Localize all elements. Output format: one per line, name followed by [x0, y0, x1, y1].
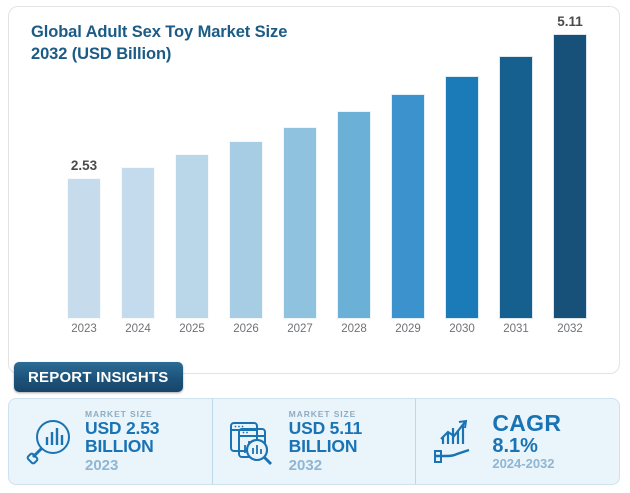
bar-2030 — [445, 7, 479, 319]
bar-2025 — [175, 7, 209, 319]
x-tick-2032: 2032 — [541, 323, 599, 335]
insight-kicker: MARKET SIZE — [289, 410, 362, 419]
x-tick-2028: 2028 — [325, 323, 383, 335]
insight-text: MARKET SIZE USD 5.11 BILLION 2032 — [289, 410, 362, 474]
bar-2027 — [283, 7, 317, 319]
bar-rect-2027 — [283, 127, 317, 319]
report-insights-banner: REPORT INSIGHTS — [14, 362, 183, 392]
cagr-title: CAGR — [492, 412, 561, 435]
insights-panel: MARKET SIZE USD 2.53 BILLION 2023 — [8, 398, 620, 485]
bar-2028 — [337, 7, 371, 319]
x-tick-2030: 2030 — [433, 323, 491, 335]
bar-rect-2023 — [67, 178, 101, 319]
bar-rect-2032 — [553, 34, 587, 319]
x-tick-2031: 2031 — [487, 323, 545, 335]
bar-value-label-2032: 5.11 — [541, 14, 599, 29]
insight-main-line2: BILLION — [85, 438, 159, 456]
insight-card-market-size-2032: MARKET SIZE USD 5.11 BILLION 2032 — [212, 399, 416, 484]
x-tick-2027: 2027 — [271, 323, 329, 335]
bar-value-label-2023: 2.53 — [55, 158, 113, 173]
x-tick-2024: 2024 — [109, 323, 167, 335]
bar-rect-2031 — [499, 56, 533, 319]
bar-2029 — [391, 7, 425, 319]
x-tick-2025: 2025 — [163, 323, 221, 335]
bar-rect-2028 — [337, 111, 371, 319]
chart-card: Global Adult Sex Toy Market Size 2032 (U… — [8, 6, 620, 374]
bar-2031 — [499, 7, 533, 319]
x-tick-2026: 2026 — [217, 323, 275, 335]
bar-2023: 2.53 — [67, 7, 101, 319]
magnifier-bar-chart-icon — [21, 414, 77, 470]
x-tick-2023: 2023 — [55, 323, 113, 335]
insight-main-line2: BILLION — [289, 438, 362, 456]
x-tick-2029: 2029 — [379, 323, 437, 335]
cagr-value: 8.1% — [492, 436, 561, 456]
insight-text: MARKET SIZE USD 2.53 BILLION 2023 — [85, 410, 159, 474]
cagr-range: 2024-2032 — [492, 457, 561, 470]
windows-magnifier-icon — [225, 414, 281, 470]
bar-rect-2024 — [121, 167, 155, 319]
bar-2026 — [229, 7, 263, 319]
bar-2024 — [121, 7, 155, 319]
insight-card-market-size-2023: MARKET SIZE USD 2.53 BILLION 2023 — [9, 399, 212, 484]
bar-rect-2030 — [445, 76, 479, 319]
report-insights-label: REPORT INSIGHTS — [28, 369, 169, 386]
insight-year: 2023 — [85, 458, 159, 473]
hand-growth-chart-icon — [428, 414, 484, 470]
insight-kicker: MARKET SIZE — [85, 410, 159, 419]
bar-chart-plot: 2.535.11 2023202420252026202720282029203… — [9, 7, 620, 373]
bar-rect-2029 — [391, 94, 425, 319]
infographic-root: Global Adult Sex Toy Market Size 2032 (U… — [0, 0, 630, 493]
bar-2032: 5.11 — [553, 7, 587, 319]
x-axis: 2023202420252026202720282029203020312032 — [57, 323, 597, 347]
bar-rect-2025 — [175, 154, 209, 319]
bar-series: 2.535.11 — [57, 7, 597, 319]
insight-year: 2032 — [289, 458, 362, 473]
cagr-text: CAGR 8.1% 2024-2032 — [492, 412, 561, 470]
bar-rect-2026 — [229, 141, 263, 319]
insight-card-cagr: CAGR 8.1% 2024-2032 — [415, 399, 619, 484]
